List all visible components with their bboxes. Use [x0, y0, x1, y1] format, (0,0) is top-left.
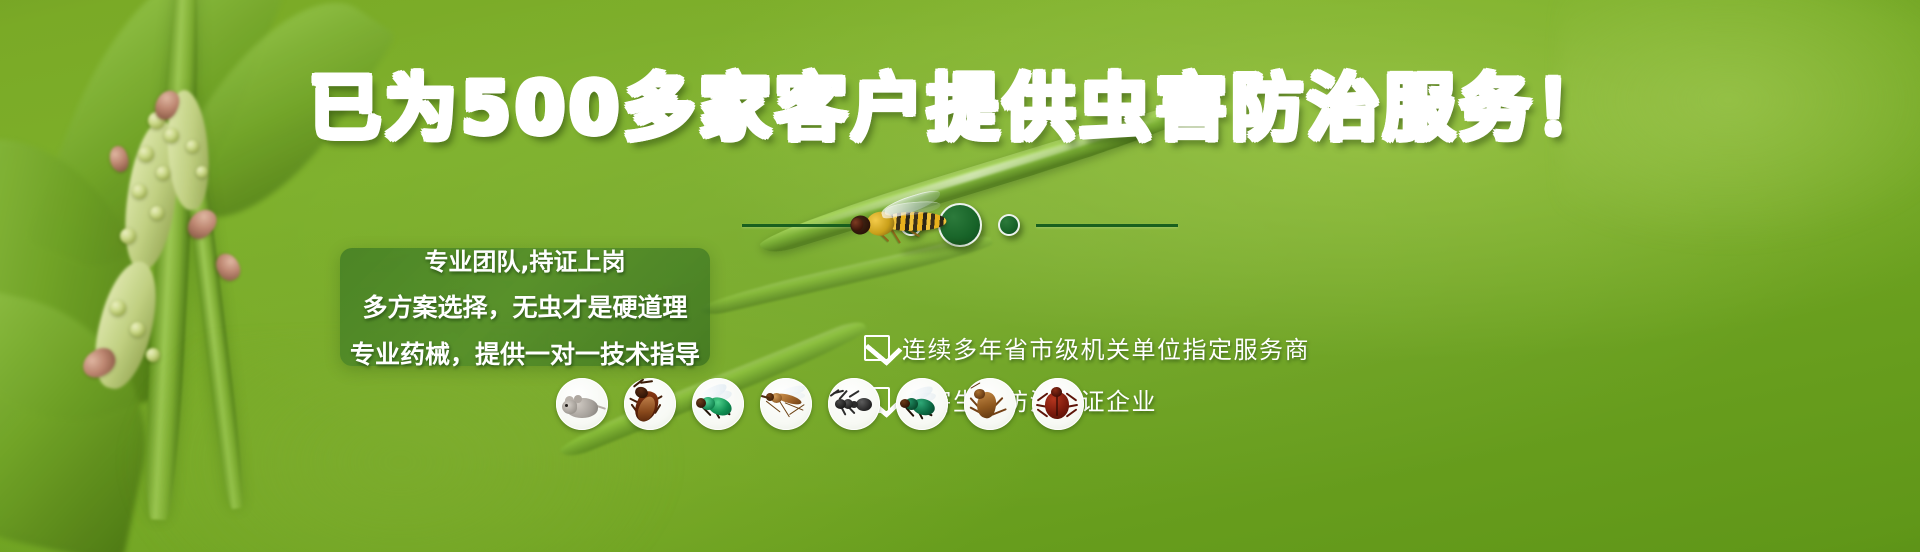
- cockroach-icon[interactable]: [624, 378, 676, 430]
- housefly-head: [696, 398, 706, 408]
- mouse-head: [562, 400, 577, 414]
- feature-panel: 专业团队,持证上岗 多方案选择，无虫才是硬道理 专业药械，提供一对一技术指导: [340, 248, 710, 366]
- banner-headline-text: 已为500多家客户提供虫害防治服务！: [309, 66, 1611, 150]
- flea-icon[interactable]: [964, 378, 1016, 430]
- bedbug-seam: [1056, 395, 1058, 416]
- ant-leg: [848, 390, 859, 398]
- bedbug-head: [1051, 387, 1062, 397]
- mouse-icon[interactable]: [556, 378, 608, 430]
- blowfly-head: [900, 399, 910, 408]
- ant-icon[interactable]: [828, 378, 880, 430]
- divider-line-right: [1036, 224, 1178, 227]
- housefly-icon[interactable]: [692, 378, 744, 430]
- checklist-item: 连续多年省市级机关单位指定服务商: [864, 330, 1310, 365]
- mouse-eye: [565, 404, 568, 407]
- ant-head: [835, 399, 846, 409]
- feature-panel-line-2: 多方案选择，无虫才是硬道理: [340, 288, 710, 324]
- checkbox-checked-icon: [864, 335, 890, 361]
- cockroach-antenna: [640, 380, 653, 383]
- feature-panel-line-3: 专业药械，提供一对一技术指导: [340, 335, 710, 371]
- mosquito-icon[interactable]: [760, 378, 812, 430]
- checklist-item-label: 连续多年省市级机关单位指定服务商: [902, 330, 1310, 365]
- blowfly-icon[interactable]: [896, 378, 948, 430]
- divider-dot-small-right: [998, 214, 1020, 236]
- feature-panel-line-1: 专业团队,持证上岗: [340, 242, 710, 277]
- ant-abdomen: [856, 398, 872, 411]
- bedbug-icon[interactable]: [1032, 378, 1084, 430]
- pest-control-banner: 已为500多家客户提供虫害防治服务！ 专业团队,持证上岗 多方案选择，无虫才是硬…: [0, 0, 1920, 552]
- pest-icon-row: [556, 378, 1084, 430]
- banner-headline: 已为500多家客户提供虫害防治服务！: [0, 72, 1920, 144]
- flea-head: [974, 389, 985, 399]
